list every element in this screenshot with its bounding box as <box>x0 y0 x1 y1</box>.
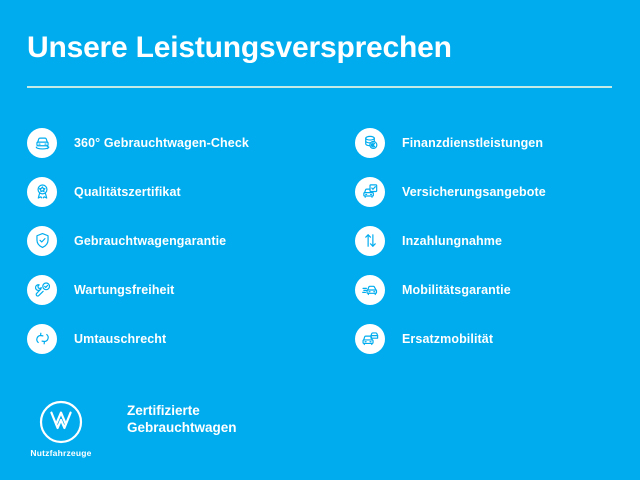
benefit-label: Gebrauchtwagengarantie <box>74 234 226 248</box>
two-cars-icon <box>355 324 385 354</box>
benefits-column-right: Finanzdienstleistungen Versicherungsange… <box>355 118 640 363</box>
up-down-arrows-icon <box>355 226 385 256</box>
benefit-item[interactable]: Qualitätszertifikat <box>27 167 327 216</box>
benefit-label: Finanzdienstleistungen <box>402 136 543 150</box>
benefit-item[interactable]: 360° Gebrauchtwagen-Check <box>27 118 327 167</box>
car-360-check-icon <box>27 128 57 158</box>
benefit-item[interactable]: Versicherungsangebote <box>355 167 640 216</box>
promise-slide: Unsere Leistungsversprechen 360° Gebrauc… <box>0 0 640 480</box>
benefit-item[interactable]: Gebrauchtwagengarantie <box>27 216 327 265</box>
benefit-item[interactable]: Umtauschrecht <box>27 314 327 363</box>
footer-line-2: Gebrauchtwagen <box>127 419 237 436</box>
benefit-item[interactable]: Ersatzmobilität <box>355 314 640 363</box>
benefit-label: Qualitätszertifikat <box>74 185 181 199</box>
vw-logo-subtitle: Nutzfahrzeuge <box>30 448 92 458</box>
vw-logo: Nutzfahrzeuge <box>30 398 92 458</box>
benefit-label: 360° Gebrauchtwagen-Check <box>74 136 249 150</box>
footer-text: Zertifizierte Gebrauchtwagen <box>127 402 237 436</box>
title-divider <box>27 86 612 88</box>
benefit-label: Versicherungsangebote <box>402 185 546 199</box>
exchange-arrows-icon <box>27 324 57 354</box>
car-motion-icon <box>355 275 385 305</box>
benefit-label: Ersatzmobilität <box>402 332 493 346</box>
benefit-label: Mobilitätsgarantie <box>402 283 511 297</box>
page-title: Unsere Leistungsversprechen <box>27 31 452 65</box>
coins-euro-icon <box>355 128 385 158</box>
car-document-check-icon <box>355 177 385 207</box>
benefit-item[interactable]: Finanzdienstleistungen <box>355 118 640 167</box>
award-rosette-icon <box>27 177 57 207</box>
benefit-item[interactable]: Inzahlungnahme <box>355 216 640 265</box>
benefit-item[interactable]: Wartungsfreiheit <box>27 265 327 314</box>
benefits-column-left: 360° Gebrauchtwagen-Check Qualitätszerti… <box>27 118 327 363</box>
wrench-check-icon <box>27 275 57 305</box>
benefit-label: Wartungsfreiheit <box>74 283 174 297</box>
footer: Nutzfahrzeuge Zertifizierte Gebrauchtwag… <box>27 398 427 460</box>
vw-roundel-logo <box>37 398 85 446</box>
benefit-label: Inzahlungnahme <box>402 234 502 248</box>
benefit-item[interactable]: Mobilitätsgarantie <box>355 265 640 314</box>
shield-check-icon <box>27 226 57 256</box>
benefit-label: Umtauschrecht <box>74 332 166 346</box>
footer-line-1: Zertifizierte <box>127 402 237 419</box>
